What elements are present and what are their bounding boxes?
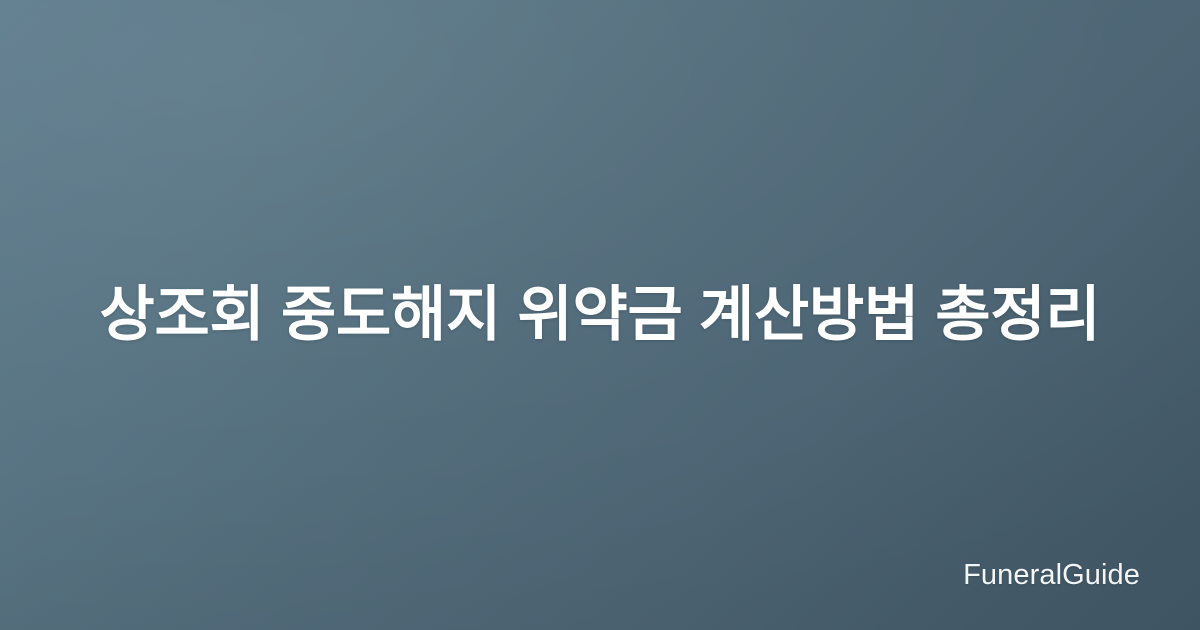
page-title: 상조회 중도해지 위약금 계산방법 총정리 [100, 277, 1101, 354]
og-card: 상조회 중도해지 위약금 계산방법 총정리 FuneralGuide [0, 0, 1200, 630]
title-block: 상조회 중도해지 위약금 계산방법 총정리 [0, 0, 1200, 630]
brand-wordmark: FuneralGuide [963, 561, 1140, 590]
